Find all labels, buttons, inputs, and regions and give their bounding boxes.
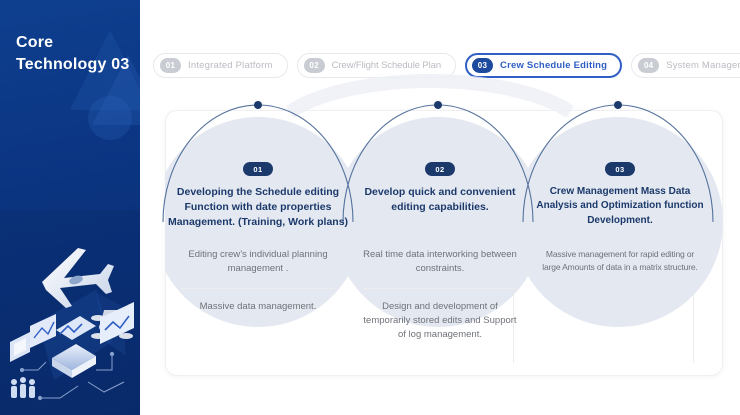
circle-column-3: 03 Crew Management Mass Data Analysis an… (527, 100, 713, 228)
body-column-2: Real time data interworking between cons… (347, 248, 533, 342)
sidebar: Core Technology 03 (0, 0, 140, 415)
screen-icon-left (10, 332, 30, 362)
body-item-1-1: Editing crew’s individual planning manag… (165, 248, 351, 277)
sidebar-title: Core Technology 03 (16, 32, 129, 75)
body-column-1: Editing crew’s individual planning manag… (165, 248, 351, 314)
isometric-aviation-data-illustration (0, 230, 140, 415)
body-item-3-1: Massive management for rapid editing or … (527, 248, 713, 274)
circle-badge-03: 03 (605, 162, 635, 176)
sidebar-title-line2: Technology 03 (16, 54, 129, 76)
slide-root: Core Technology 03 (0, 0, 740, 415)
body-separator-1 (181, 288, 335, 289)
sidebar-title-line1: Core (16, 32, 129, 54)
people-icon (11, 377, 35, 398)
circle-heading-02: Develop quick and convenient editing cap… (347, 185, 533, 215)
body-item-2-1: Real time data interworking between cons… (347, 248, 533, 277)
body-item-2-2: Design and development of temporarily st… (347, 300, 533, 343)
circle-heading-01: Developing the Schedule editing Function… (165, 185, 351, 231)
circle-column-1: 01 Developing the Schedule editing Funct… (165, 100, 351, 230)
body-item-1-2: Massive data management. (165, 300, 351, 314)
circle-heading-03: Crew Management Mass Data Analysis and O… (527, 185, 713, 229)
circle-headings: 01 Developing the Schedule editing Funct… (165, 100, 723, 260)
body-column-3: Massive management for rapid editing or … (527, 248, 713, 274)
body-separator-2 (363, 288, 517, 289)
circle-badge-02: 02 (425, 162, 455, 176)
body-columns: Editing crew’s individual planning manag… (165, 248, 723, 368)
circle-column-2: 02 Develop quick and convenient editing … (347, 100, 533, 215)
circle-badge-01: 01 (243, 162, 273, 176)
